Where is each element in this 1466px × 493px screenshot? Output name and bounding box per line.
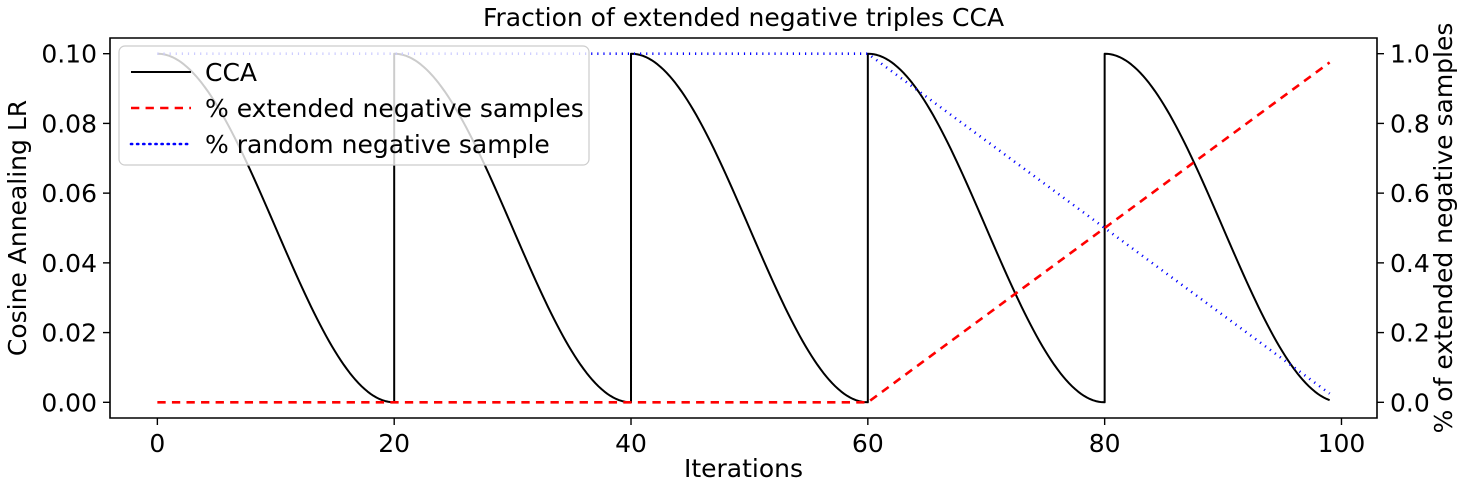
x-axis-label: Iterations bbox=[684, 454, 803, 483]
legend-layer[interactable]: CCA% extended negative samples% random n… bbox=[119, 46, 589, 165]
xtick-label: 20 bbox=[378, 429, 410, 458]
ytick-right-label: 0.2 bbox=[1390, 319, 1430, 348]
legend-label-0: CCA bbox=[205, 58, 257, 87]
ytick-right-label: 0.6 bbox=[1390, 179, 1430, 208]
xtick-label: 0 bbox=[149, 429, 165, 458]
ytick-right-label: 0.8 bbox=[1390, 109, 1430, 138]
xtick-label: 60 bbox=[852, 429, 884, 458]
ytick-left-label: 0.08 bbox=[41, 109, 97, 138]
xtick-label: 80 bbox=[1089, 429, 1121, 458]
xtick-label: 100 bbox=[1318, 429, 1366, 458]
ytick-right-label: 0.4 bbox=[1390, 249, 1430, 278]
ytick-left-label: 0.06 bbox=[41, 179, 97, 208]
chart-figure: 0204060801000.000.020.040.060.080.100.00… bbox=[0, 0, 1466, 493]
legend-label-2: % random negative sample bbox=[205, 130, 550, 159]
y-axis-label-left: Cosine Annealing LR bbox=[3, 100, 32, 356]
chart-title: Fraction of extended negative triples CC… bbox=[483, 3, 1004, 32]
ytick-right-label: 1.0 bbox=[1390, 40, 1430, 69]
ytick-left-label: 0.00 bbox=[41, 388, 97, 417]
y-axis-label-right: % of extended negative samples bbox=[1429, 23, 1458, 434]
xtick-label: 40 bbox=[615, 429, 647, 458]
ytick-left-label: 0.04 bbox=[41, 249, 97, 278]
chart-canvas: 0204060801000.000.020.040.060.080.100.00… bbox=[0, 0, 1466, 493]
ytick-right-label: 0.0 bbox=[1390, 388, 1430, 417]
ytick-left-label: 0.10 bbox=[41, 40, 97, 69]
legend-label-1: % extended negative samples bbox=[205, 94, 584, 123]
ytick-left-label: 0.02 bbox=[41, 319, 97, 348]
